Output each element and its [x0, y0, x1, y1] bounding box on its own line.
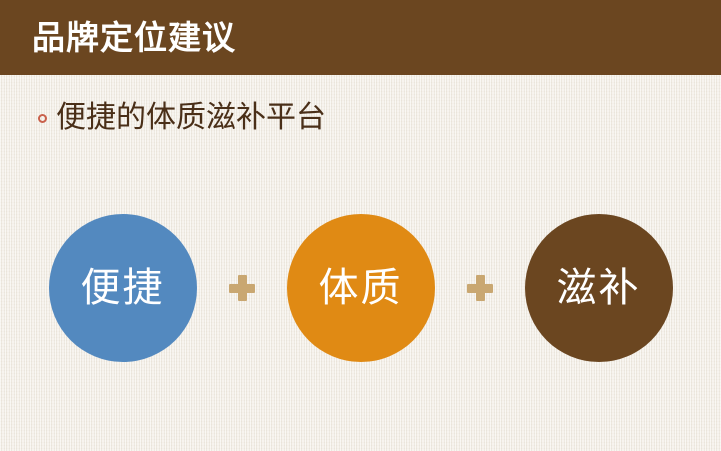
- formula-circle-label: 体质: [319, 266, 403, 310]
- formula-circle-label: 滋补: [557, 266, 641, 310]
- formula-circle-label: 便捷: [81, 266, 165, 310]
- hollow-circle-bullet-icon: [38, 114, 47, 123]
- formula-circle-constitution: 体质: [287, 214, 435, 362]
- formula-circle-convenient: 便捷: [49, 214, 197, 362]
- plus-icon-2: [467, 275, 493, 301]
- formula-circle-nourishment: 滋补: [525, 214, 673, 362]
- subtitle-row: 便捷的体质滋补平台: [38, 98, 326, 138]
- page-title: 品牌定位建议: [32, 17, 236, 59]
- slide-canvas: 品牌定位建议 便捷的体质滋补平台 便捷 体质 滋补: [0, 0, 721, 451]
- brand-formula-row: 便捷 体质 滋补: [0, 198, 721, 378]
- plus-icon-1: [229, 275, 255, 301]
- header-bar: 品牌定位建议: [0, 0, 721, 75]
- subtitle-text: 便捷的体质滋补平台: [56, 98, 326, 138]
